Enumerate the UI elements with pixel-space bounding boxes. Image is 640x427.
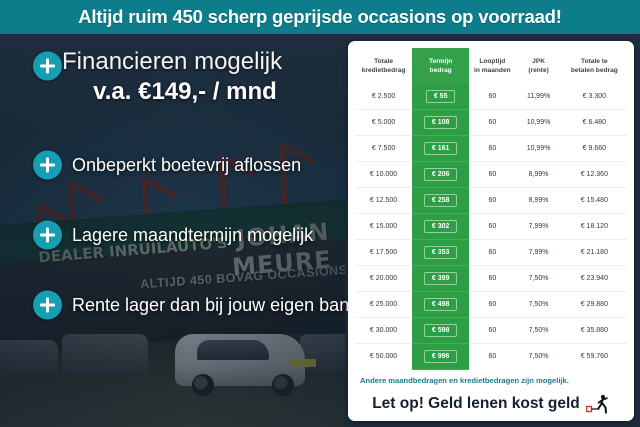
- promo-bullet-item: Onbeperkt boetevrij aflossen: [0, 130, 348, 200]
- cell-termijn-pill: € 498: [424, 298, 458, 311]
- walking-person-dragging-block-icon: [586, 394, 610, 414]
- cell-totaal: € 21.180: [562, 240, 627, 266]
- cell-totaal: € 18.120: [562, 214, 627, 240]
- top-banner-text: Altijd ruim 450 scherp geprijsde occasio…: [78, 6, 562, 28]
- cell-looptijd: 60: [469, 240, 515, 266]
- table-row: € 2.500€ 556011,99%€ 3.300: [355, 84, 627, 110]
- rates-header-termijn: Termijn bedrag: [412, 48, 469, 84]
- cell-termijn-pill: € 353: [424, 246, 458, 259]
- cell-totaal: € 3.300: [562, 84, 627, 110]
- cell-jkp: 7,50%: [515, 292, 561, 318]
- cell-looptijd: 60: [469, 188, 515, 214]
- table-row: € 10.000€ 206608,99%€ 12.360: [355, 162, 627, 188]
- table-row: € 7.500€ 1616010,99%€ 9.660: [355, 136, 627, 162]
- cell-krediet: € 17.500: [355, 240, 412, 266]
- cell-totaal: € 35.880: [562, 318, 627, 344]
- rates-header-jkp: JPK (rente): [515, 48, 561, 84]
- cell-termijn: € 108: [412, 110, 469, 136]
- top-banner: Altijd ruim 450 scherp geprijsde occasio…: [0, 0, 640, 34]
- promo-bullet-item: Rente lager dan bij jouw eigen bank: [0, 270, 348, 340]
- table-row: € 20.000€ 399607,50%€ 23.940: [355, 266, 627, 292]
- cell-krediet: € 10.000: [355, 162, 412, 188]
- plus-icon: [33, 291, 62, 320]
- loan-warning-bar: Let op! Geld lenen kost geld: [348, 387, 634, 421]
- cell-termijn: € 353: [412, 240, 469, 266]
- rates-header-krediet: Totale kredietbedrag: [355, 48, 412, 84]
- cell-termijn-pill: € 598: [424, 324, 458, 337]
- promo-copy: Financieren mogelijk v.a. €149,- / mnd O…: [0, 34, 348, 427]
- cell-krediet: € 15.000: [355, 214, 412, 240]
- cell-termijn: € 206: [412, 162, 469, 188]
- promo-bullet-label: Rente lager dan bij jouw eigen bank: [72, 295, 358, 316]
- cell-jkp: 11,99%: [515, 84, 561, 110]
- cell-termijn: € 258: [412, 188, 469, 214]
- table-row: € 25.000€ 498607,50%€ 29.880: [355, 292, 627, 318]
- cell-jkp: 8,99%: [515, 162, 561, 188]
- cell-totaal: € 9.660: [562, 136, 627, 162]
- cell-termijn-pill: € 258: [424, 194, 458, 207]
- cell-krediet: € 20.000: [355, 266, 412, 292]
- promo-bullet-label: Lagere maandtermijn mogelijk: [72, 225, 313, 246]
- cell-looptijd: 60: [469, 162, 515, 188]
- promo-headline: Financieren mogelijk v.a. €149,- / mnd: [62, 47, 342, 107]
- cell-termijn: € 996: [412, 344, 469, 370]
- table-row: € 50.000€ 996607,50%€ 59.760: [355, 344, 627, 370]
- cell-termijn-pill: € 108: [424, 116, 458, 129]
- cell-jkp: 7,50%: [515, 344, 561, 370]
- cell-totaal: € 15.480: [562, 188, 627, 214]
- cell-termijn-pill: € 996: [424, 350, 458, 363]
- cell-krediet: € 50.000: [355, 344, 412, 370]
- rates-table-head: Totale kredietbedrag Termijn bedrag Loop…: [355, 48, 627, 84]
- plus-icon: [33, 221, 62, 250]
- cell-jkp: 7,50%: [515, 266, 561, 292]
- legal-title: Andere maandbedragen en kredietbedragen …: [360, 376, 622, 386]
- rates-header-totaal: Totale te betalen bedrag: [562, 48, 627, 84]
- cell-termijn: € 55: [412, 84, 469, 110]
- cell-totaal: € 23.940: [562, 266, 627, 292]
- cell-krediet: € 25.000: [355, 292, 412, 318]
- cell-looptijd: 60: [469, 136, 515, 162]
- loan-rates-table: Totale kredietbedrag Termijn bedrag Loop…: [355, 48, 627, 370]
- cell-termijn: € 302: [412, 214, 469, 240]
- cell-krediet: € 12.500: [355, 188, 412, 214]
- cell-totaal: € 6.480: [562, 110, 627, 136]
- promo-headline-line2: v.a. €149,- / mnd: [62, 77, 342, 107]
- rates-header-looptijd: Looptijd in maanden: [469, 48, 515, 84]
- plus-icon: [33, 151, 62, 180]
- cell-looptijd: 60: [469, 318, 515, 344]
- cell-looptijd: 60: [469, 110, 515, 136]
- cell-jkp: 8,99%: [515, 188, 561, 214]
- cell-looptijd: 60: [469, 344, 515, 370]
- cell-termijn: € 161: [412, 136, 469, 162]
- cell-termijn: € 498: [412, 292, 469, 318]
- promo-bullet-label: Onbeperkt boetevrij aflossen: [72, 155, 301, 176]
- cell-termijn-pill: € 55: [426, 90, 456, 103]
- cell-termijn-pill: € 206: [424, 168, 458, 181]
- cell-looptijd: 60: [469, 214, 515, 240]
- cell-krediet: € 5.000: [355, 110, 412, 136]
- plus-icon: [33, 52, 62, 81]
- cell-totaal: € 12.360: [562, 162, 627, 188]
- cell-krediet: € 2.500: [355, 84, 412, 110]
- cell-termijn: € 598: [412, 318, 469, 344]
- cell-termijn-pill: € 161: [424, 142, 458, 155]
- cell-termijn-pill: € 399: [424, 272, 458, 285]
- cell-jkp: 7,99%: [515, 214, 561, 240]
- promo-headline-line1: Financieren mogelijk: [62, 47, 342, 77]
- table-row: € 17.500€ 353607,99%€ 21.180: [355, 240, 627, 266]
- cell-jkp: 10,99%: [515, 110, 561, 136]
- table-row: € 15.000€ 302607,99%€ 18.120: [355, 214, 627, 240]
- table-row: € 5.000€ 1086010,99%€ 6.480: [355, 110, 627, 136]
- promo-bullet-list: Onbeperkt boetevrij aflossen Lagere maan…: [0, 130, 348, 340]
- loan-warning-text: Let op! Geld lenen kost geld: [372, 395, 580, 413]
- cell-jkp: 10,99%: [515, 136, 561, 162]
- cell-looptijd: 60: [469, 292, 515, 318]
- cell-krediet: € 7.500: [355, 136, 412, 162]
- rates-table-wrap: Totale kredietbedrag Termijn bedrag Loop…: [348, 41, 634, 370]
- cell-krediet: € 30.000: [355, 318, 412, 344]
- advertisement-banner: Altijd ruim 450 scherp geprijsde occasio…: [0, 0, 640, 427]
- cell-looptijd: 60: [469, 84, 515, 110]
- table-row: € 12.500€ 258608,99%€ 15.480: [355, 188, 627, 214]
- table-row: € 30.000€ 598607,50%€ 35.880: [355, 318, 627, 344]
- cell-jkp: 7,99%: [515, 240, 561, 266]
- cell-termijn-pill: € 302: [424, 220, 458, 233]
- cell-totaal: € 59.760: [562, 344, 627, 370]
- cell-jkp: 7,50%: [515, 318, 561, 344]
- rates-header-row: Totale kredietbedrag Termijn bedrag Loop…: [355, 48, 627, 84]
- cell-totaal: € 29.880: [562, 292, 627, 318]
- loan-info-card: Totale kredietbedrag Termijn bedrag Loop…: [348, 41, 634, 421]
- promo-bullet-item: Lagere maandtermijn mogelijk: [0, 200, 348, 270]
- rates-table-body: € 2.500€ 556011,99%€ 3.300€ 5.000€ 10860…: [355, 84, 627, 370]
- cell-termijn: € 399: [412, 266, 469, 292]
- cell-looptijd: 60: [469, 266, 515, 292]
